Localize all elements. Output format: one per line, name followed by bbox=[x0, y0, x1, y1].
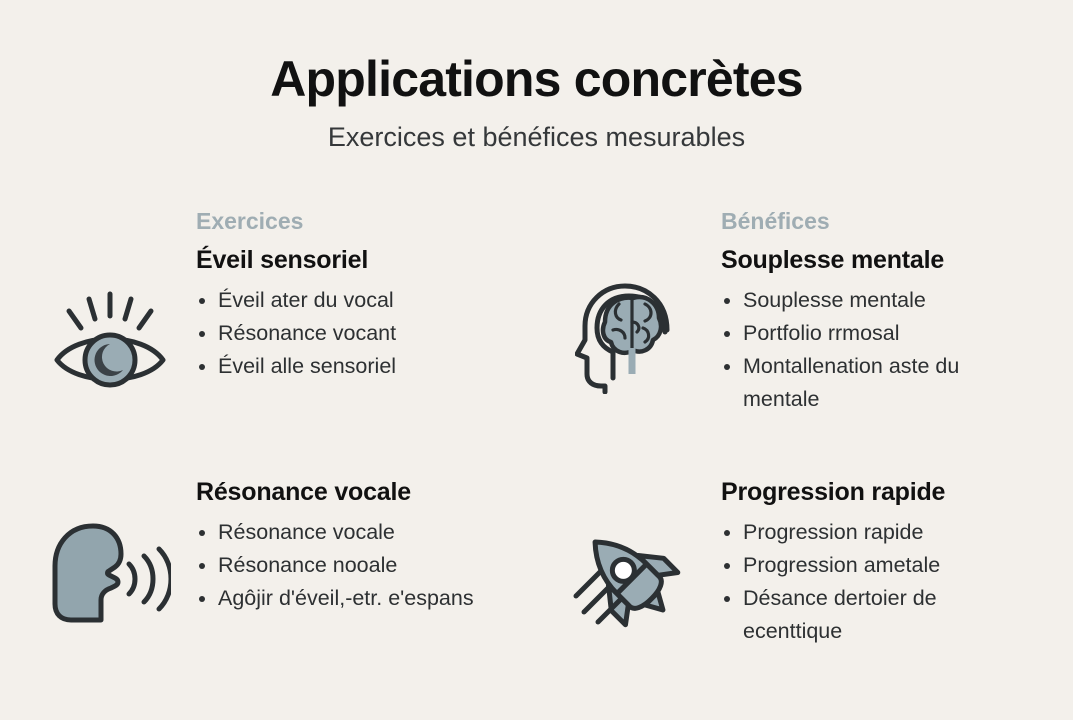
list-item: Désance dertoier de ecenttique bbox=[721, 582, 1030, 648]
list-item: Montallenation aste du mentale bbox=[721, 350, 1030, 416]
block-title: Souplesse mentale bbox=[721, 246, 1030, 275]
block-title: Résonance vocale bbox=[196, 478, 518, 507]
speaking-head-icon bbox=[49, 522, 171, 626]
block-resonance-vocale: Résonance vocale Résonance vocale Résona… bbox=[24, 478, 536, 648]
list-item: Éveil ater du vocal bbox=[196, 284, 518, 317]
block-title: Progression rapide bbox=[721, 478, 1030, 507]
page-subtitle: Exercices et bénéfices mesurables bbox=[0, 121, 1073, 153]
text-cell: Résonance vocale Résonance vocale Résona… bbox=[196, 478, 536, 615]
bullet-list: Progression rapide Progression ametale D… bbox=[721, 516, 1030, 648]
text-cell: Souplesse mentale Souplesse mentale Port… bbox=[721, 246, 1048, 416]
list-item: Résonance nooale bbox=[196, 549, 518, 582]
list-item: Éveil alle sensoriel bbox=[196, 350, 518, 383]
bullet-list: Souplesse mentale Portfolio rrmosal Mont… bbox=[721, 284, 1030, 416]
bullet-list: Résonance vocale Résonance nooale Agôjir… bbox=[196, 516, 518, 615]
icon-cell bbox=[536, 246, 721, 394]
head-silhouette bbox=[55, 526, 121, 620]
sound-waves bbox=[129, 549, 171, 609]
column-label-exercices: Exercices bbox=[24, 208, 536, 238]
bullet-list: Éveil ater du vocal Résonance vocant Éve… bbox=[196, 284, 518, 383]
page-title: Applications concrètes bbox=[0, 52, 1073, 107]
block-progression-rapide: Progression rapide Progression rapide Pr… bbox=[536, 478, 1048, 648]
list-item: Progression rapide bbox=[721, 516, 1030, 549]
rocket-icon bbox=[570, 524, 688, 628]
icon-cell bbox=[24, 478, 196, 626]
block-eveil-sensoriel: Éveil sensoriel Éveil ater du vocal Réso… bbox=[24, 246, 536, 416]
slide-header: Applications concrètes Exercices et béné… bbox=[0, 0, 1073, 153]
eye-icon bbox=[51, 290, 169, 388]
block-title: Éveil sensoriel bbox=[196, 246, 518, 275]
list-item: Résonance vocant bbox=[196, 317, 518, 350]
text-cell: Progression rapide Progression rapide Pr… bbox=[721, 478, 1048, 648]
brain-head-icon bbox=[575, 282, 683, 394]
list-item: Progression ametale bbox=[721, 549, 1030, 582]
block-souplesse-mentale: Souplesse mentale Souplesse mentale Port… bbox=[536, 246, 1048, 416]
column-label-benefices: Bénéfices bbox=[536, 208, 1048, 238]
list-item: Agôjir d'éveil,-etr. e'espans bbox=[196, 582, 518, 615]
slide: Applications concrètes Exercices et béné… bbox=[0, 0, 1073, 720]
list-item: Résonance vocale bbox=[196, 516, 518, 549]
icon-cell bbox=[536, 478, 721, 628]
eye-iris bbox=[85, 335, 135, 385]
text-cell: Éveil sensoriel Éveil ater du vocal Réso… bbox=[196, 246, 536, 383]
content-grid: Exercices Bénéfices bbox=[0, 208, 1073, 648]
icon-cell bbox=[24, 246, 196, 388]
list-item: Portfolio rrmosal bbox=[721, 317, 1030, 350]
list-item: Souplesse mentale bbox=[721, 284, 1030, 317]
